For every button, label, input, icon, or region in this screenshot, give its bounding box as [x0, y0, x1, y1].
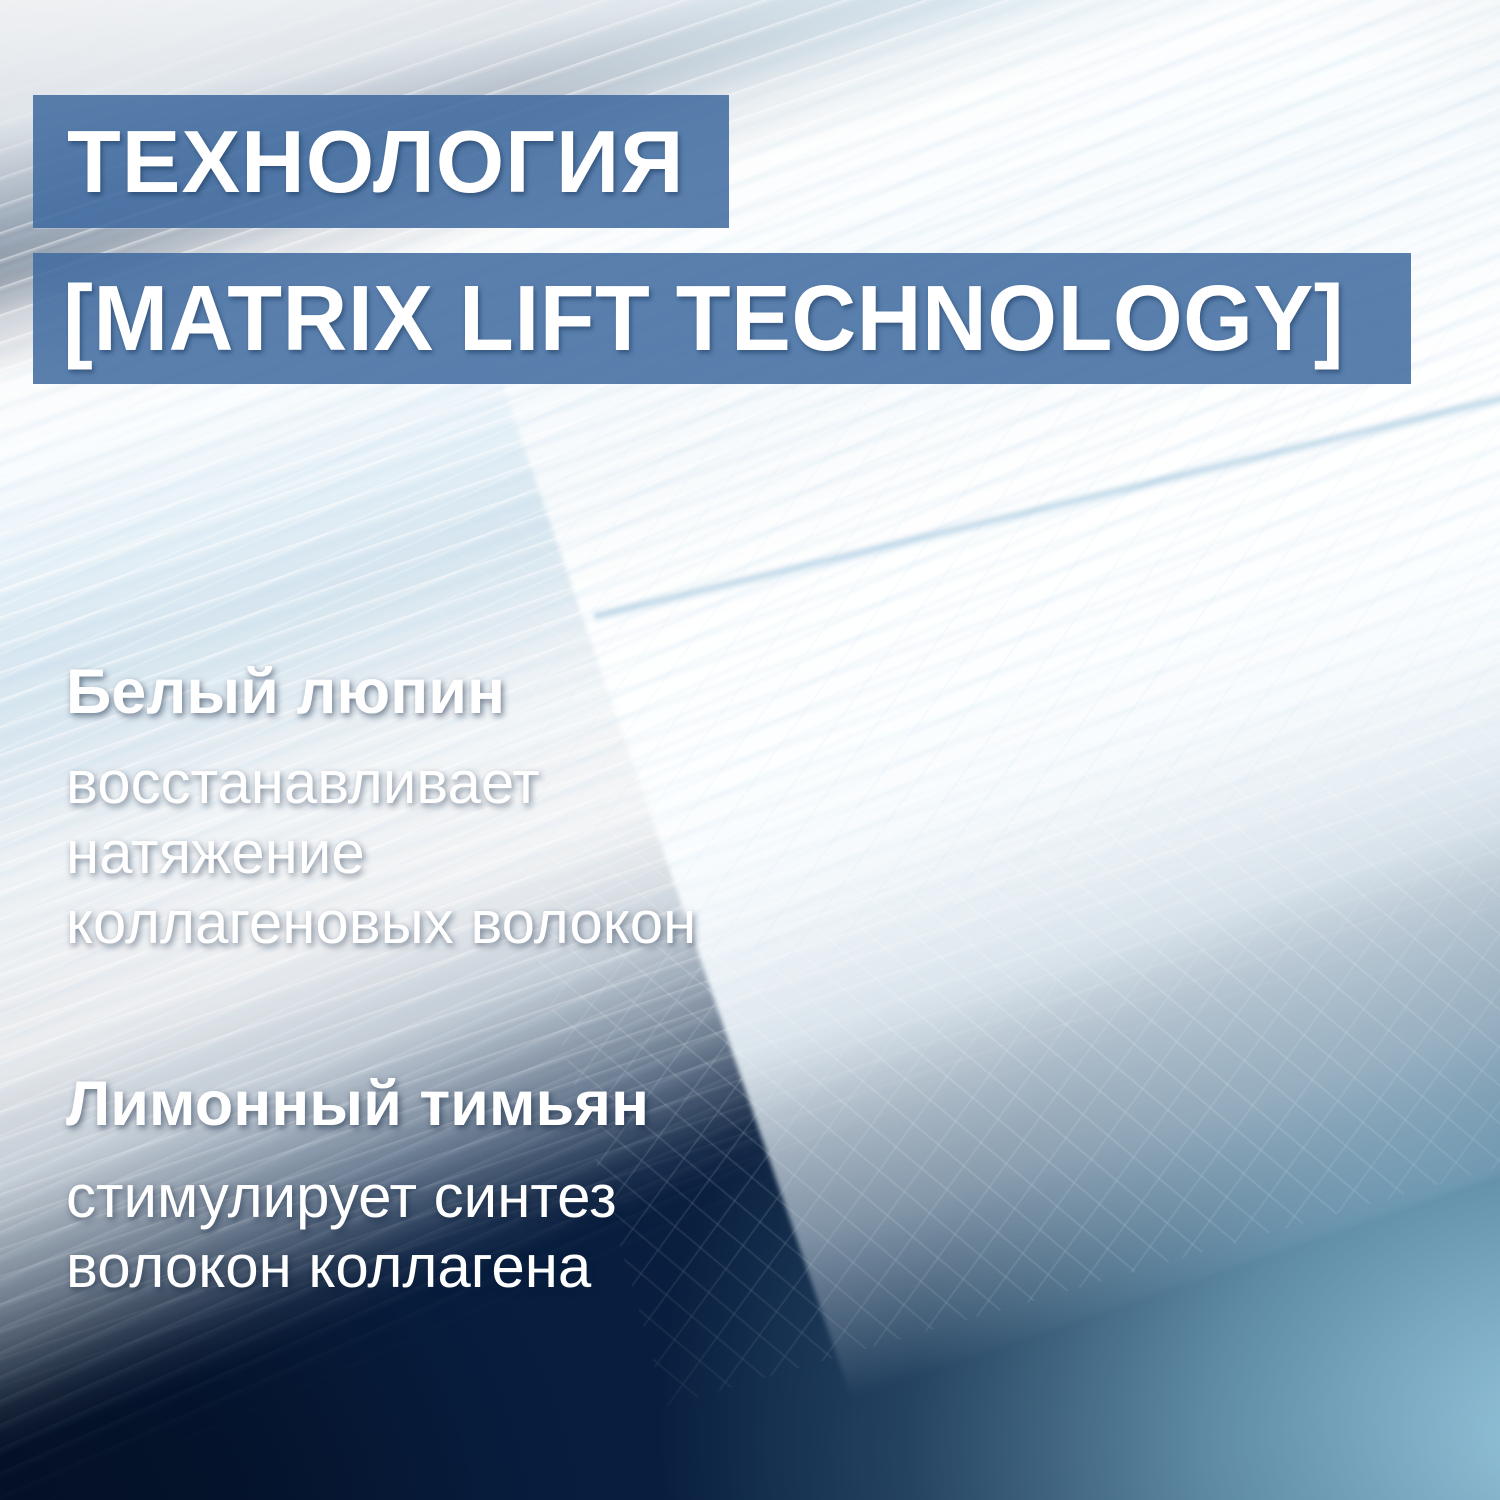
- description-line: волокон коллагена: [66, 1232, 649, 1302]
- ingredient-heading-lemon-thyme: Лимонный тимьян: [66, 1072, 649, 1138]
- promo-banner-canvas: ТЕХНОЛОГИЯ [MATRIX LIFT TECHNOLOGY] Белы…: [0, 0, 1500, 1500]
- banner-technology: ТЕХНОЛОГИЯ: [33, 95, 729, 228]
- banner-matrix-lift-technology-label: [MATRIX LIFT TECHNOLOGY]: [63, 272, 1344, 365]
- description-line: коллагеновых волокон: [66, 888, 696, 958]
- ingredient-description-lemon-thyme: стимулирует синтез волокон коллагена: [66, 1162, 649, 1302]
- ingredient-block-white-lupin: Белый люпин восстанавливает натяжение ко…: [66, 660, 696, 958]
- banner-technology-label: ТЕХНОЛОГИЯ: [67, 118, 685, 206]
- banner-matrix-lift-technology: [MATRIX LIFT TECHNOLOGY]: [33, 253, 1411, 384]
- description-line: восстанавливает: [66, 748, 696, 818]
- description-line: стимулирует синтез: [66, 1162, 649, 1232]
- ingredient-description-white-lupin: восстанавливает натяжение коллагеновых в…: [66, 748, 696, 959]
- description-line: натяжение: [66, 818, 696, 888]
- ingredient-heading-white-lupin: Белый люпин: [66, 660, 696, 726]
- ingredient-block-lemon-thyme: Лимонный тимьян стимулирует синтез волок…: [66, 1072, 649, 1302]
